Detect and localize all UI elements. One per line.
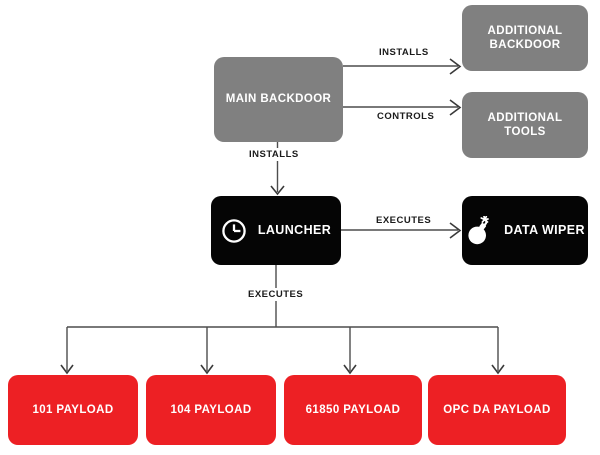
node-main-backdoor-label: MAIN BACKDOOR (226, 92, 332, 106)
malware-component-diagram: MAIN BACKDOOR ADDITIONAL BACKDOOR ADDITI… (0, 0, 600, 455)
node-payload-opcda[interactable]: OPC DA PAYLOAD (428, 375, 566, 445)
edge-label-controls-tools: CONTROLS (374, 110, 437, 123)
node-main-backdoor[interactable]: MAIN BACKDOOR (214, 57, 343, 142)
node-payload-101-label: 101 PAYLOAD (32, 403, 113, 417)
arrowhead-drop-101 (61, 365, 73, 373)
arrowhead-installs-backdoor (450, 59, 460, 74)
node-payload-opcda-label: OPC DA PAYLOAD (443, 403, 550, 417)
node-additional-tools[interactable]: ADDITIONAL TOOLS (462, 92, 588, 158)
edge-label-installs-backdoor: INSTALLS (376, 46, 432, 59)
arrowhead-drop-61850 (344, 365, 356, 373)
node-additional-backdoor-label: ADDITIONAL BACKDOOR (488, 24, 563, 53)
arrowhead-executes-wiper (450, 223, 460, 238)
arrowhead-controls-tools (450, 100, 460, 115)
node-data-wiper[interactable]: DATA WIPER (462, 196, 588, 265)
node-launcher-label: LAUNCHER (258, 223, 331, 239)
node-additional-tools-label: ADDITIONAL TOOLS (488, 111, 563, 140)
arrowhead-drop-opcda (492, 365, 504, 373)
node-payload-61850[interactable]: 61850 PAYLOAD (284, 375, 422, 445)
edge-label-executes-payloads: EXECUTES (245, 288, 306, 301)
node-data-wiper-label: DATA WIPER (504, 223, 585, 239)
bomb-icon (465, 216, 493, 246)
node-payload-104[interactable]: 104 PAYLOAD (146, 375, 276, 445)
edge-label-executes-wiper: EXECUTES (373, 214, 434, 227)
node-payload-104-label: 104 PAYLOAD (170, 403, 251, 417)
clock-icon (221, 218, 247, 244)
edge-label-installs-launcher: INSTALLS (246, 148, 302, 161)
node-additional-backdoor[interactable]: ADDITIONAL BACKDOOR (462, 5, 588, 71)
node-payload-101[interactable]: 101 PAYLOAD (8, 375, 138, 445)
node-payload-61850-label: 61850 PAYLOAD (306, 403, 401, 417)
node-launcher[interactable]: LAUNCHER (211, 196, 341, 265)
arrowhead-drop-104 (201, 365, 213, 373)
arrowhead-installs-launcher (271, 186, 284, 194)
